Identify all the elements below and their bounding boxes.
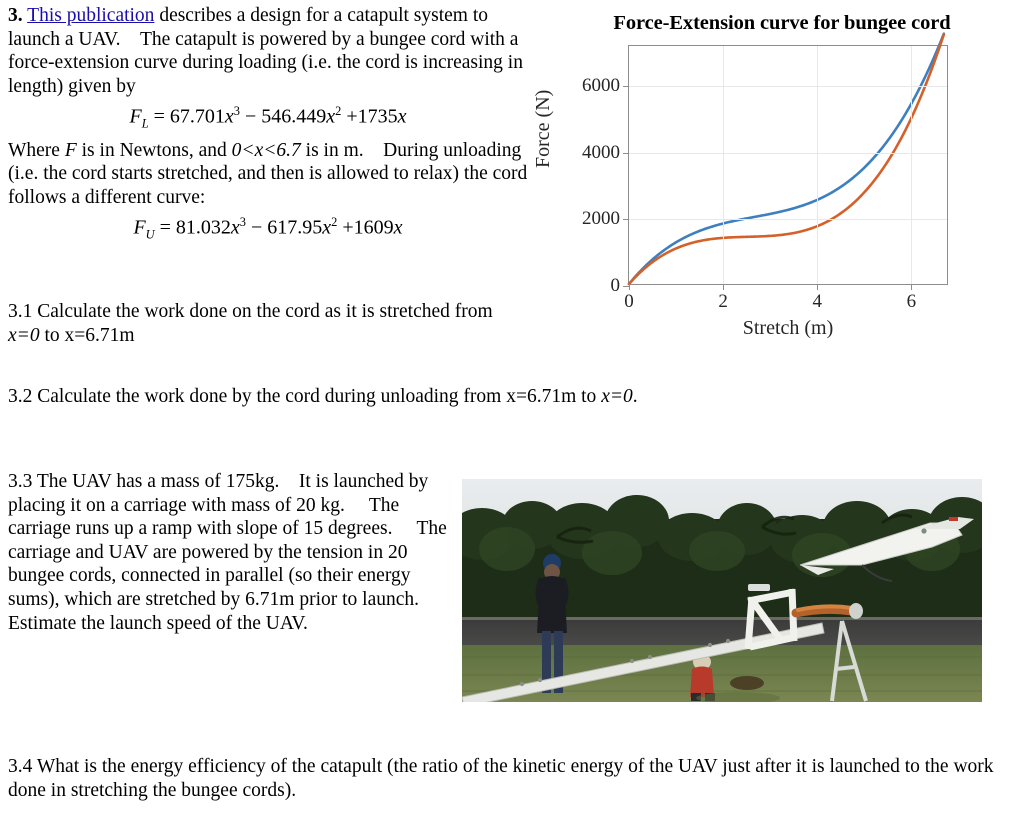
q32-x-end: x=0	[601, 386, 633, 407]
q31-text-b: to	[40, 325, 65, 346]
eq-loading-c1: 67.701	[170, 106, 225, 128]
question-3-2: 3.2 Calculate the work done by the cord …	[8, 385, 1008, 409]
x-tick-label: 0	[624, 291, 634, 313]
question-3-3: 3.3 The UAV has a mass of 175kg. It is l…	[8, 470, 453, 635]
y-tick	[623, 219, 629, 220]
gridline-vertical	[911, 46, 912, 284]
photo-illustration	[462, 479, 982, 702]
question-3-4: 3.4 What is the energy efficiency of the…	[8, 755, 1013, 802]
chart-plot-area: 02000400060000246	[628, 45, 948, 285]
y-tick	[623, 86, 629, 87]
eq-unloading-c1: 81.032	[176, 217, 231, 239]
y-tick-label: 2000	[582, 208, 620, 230]
where-text-a: Where	[8, 140, 65, 161]
x-tick	[911, 284, 912, 290]
equation-loading: FL = 67.701x3 − 546.449x2 +1735x	[8, 100, 528, 136]
eq-unloading-p2: 2	[331, 215, 337, 229]
carriage-top-plate	[748, 584, 770, 591]
where-text-b: is in Newtons, and	[77, 140, 232, 161]
y-tick-label: 6000	[582, 75, 620, 97]
x-tick	[629, 284, 630, 290]
gridline-horizontal	[629, 153, 947, 154]
x-tick	[817, 284, 818, 290]
eq-loading-equals: =	[154, 106, 165, 128]
force-extension-chart: Force-Extension curve for bungee cord 02…	[540, 0, 1024, 350]
q32-period: .	[633, 386, 638, 407]
eq-loading-sub: L	[142, 117, 149, 131]
y-tick	[623, 153, 629, 154]
question-number: 3.	[8, 5, 23, 26]
x-tick	[723, 284, 724, 290]
q32-text-b: to	[576, 386, 601, 407]
where-symbol-F: F	[65, 140, 77, 161]
chart-title: Force-Extension curve for bungee cord	[540, 12, 1024, 35]
y-tick-label: 0	[611, 275, 621, 297]
q31-x-end: x=6.71m	[65, 325, 135, 346]
eq-loading-c3: 1735	[358, 106, 398, 128]
gridline-vertical	[723, 46, 724, 284]
worksheet-page: 3. This publication describes a design f…	[0, 0, 1024, 826]
question-3-1: 3.1 Calculate the work done on the cord …	[8, 300, 528, 347]
eq-unloading-lhs: F	[133, 217, 145, 239]
q32-x-start: x=6.71m	[506, 386, 576, 407]
eq-loading-c2: 546.449	[261, 106, 326, 128]
series-line-unloading	[629, 34, 944, 284]
eq-unloading-c2: 617.95	[267, 217, 322, 239]
eq-unloading-c3: 1609	[354, 217, 394, 239]
eq-loading-lhs: F	[129, 106, 141, 128]
x-tick-label: 6	[907, 291, 917, 313]
gridline-horizontal	[629, 86, 947, 87]
series-line-loading	[629, 34, 944, 284]
equation-unloading: FU = 81.032x3 − 617.95x2 +1609x	[8, 211, 528, 247]
gridline-horizontal	[629, 219, 947, 220]
where-range: 0<x<6.7	[232, 140, 301, 161]
question-3-intro: 3. This publication describes a design f…	[8, 4, 528, 250]
y-tick-label: 4000	[582, 142, 620, 164]
chart-x-axis-title: Stretch (m)	[628, 317, 948, 340]
uav-catapult-launch-photo	[462, 479, 982, 702]
eq-loading-p2: 2	[335, 104, 341, 118]
q31-text-a: 3.1 Calculate the work done on the cord …	[8, 301, 493, 322]
eq-unloading-sub: U	[146, 228, 155, 242]
q32-text-a: 3.2 Calculate the work done by the cord …	[8, 386, 506, 407]
eq-unloading-p1: 3	[240, 215, 246, 229]
x-tick-label: 2	[718, 291, 728, 313]
eq-unloading-equals: =	[160, 217, 171, 239]
chart-curves	[629, 46, 947, 284]
q31-x-start: x=0	[8, 325, 40, 346]
chart-y-axis-title: Force (N)	[532, 90, 555, 168]
x-tick-label: 4	[812, 291, 822, 313]
gridline-vertical	[817, 46, 818, 284]
publication-link[interactable]: This publication	[27, 5, 154, 26]
eq-loading-p1: 3	[234, 104, 240, 118]
